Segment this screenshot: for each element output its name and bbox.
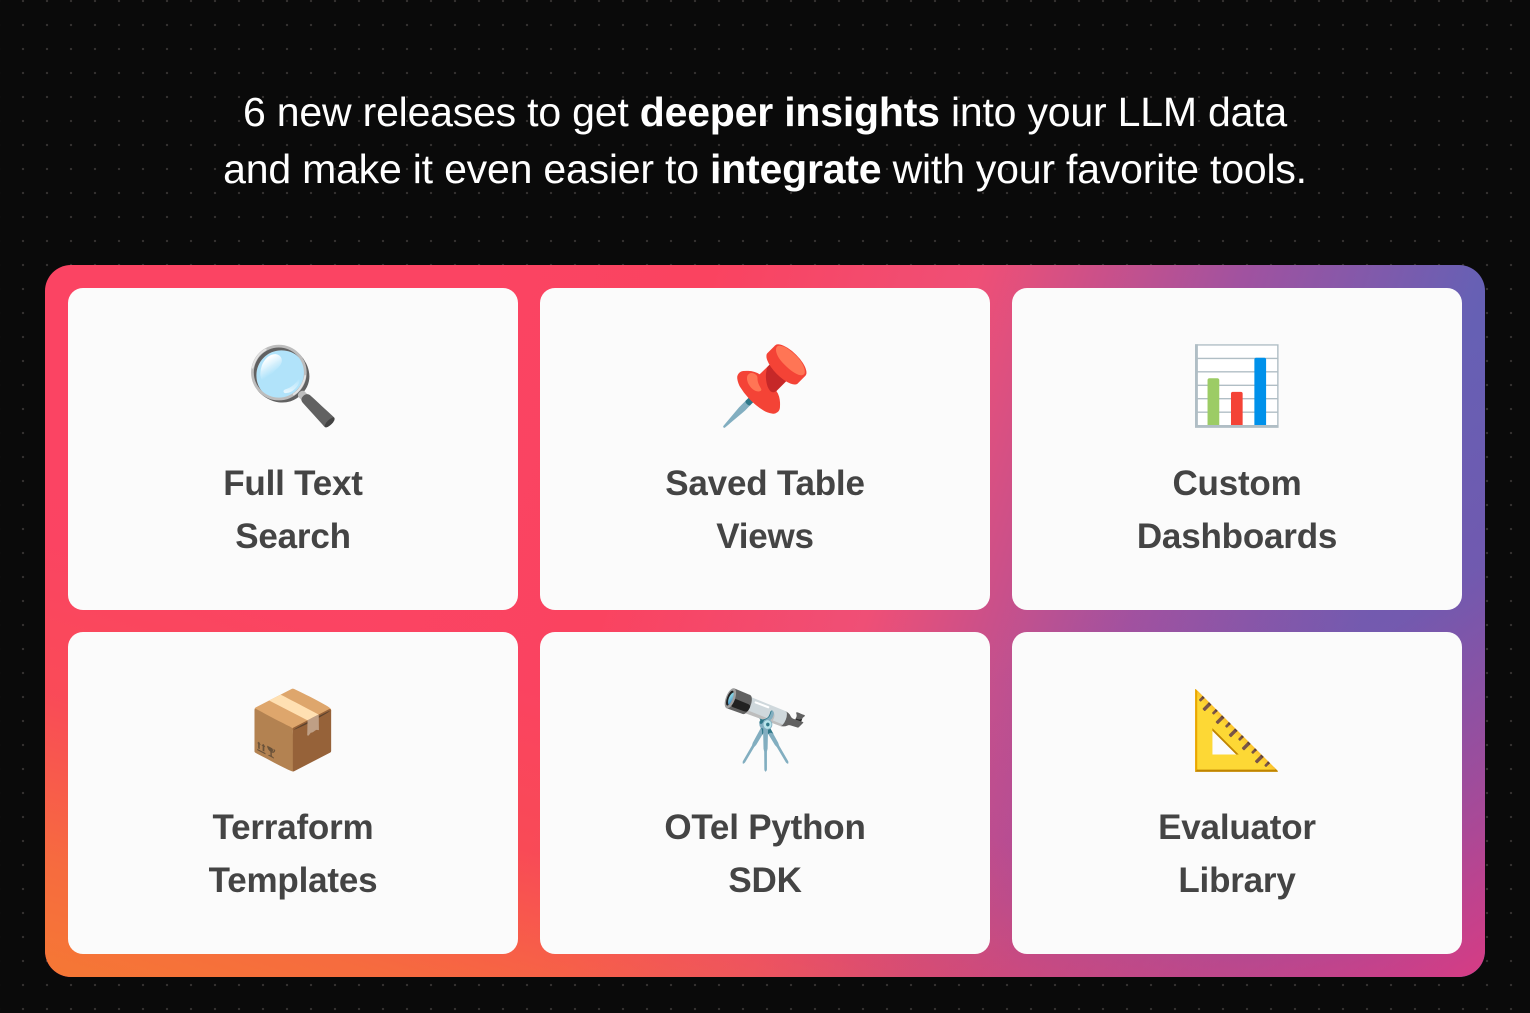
headline-line-1: 6 new releases to get deeper insights in… xyxy=(60,84,1470,141)
feature-card-label-line2: Views xyxy=(665,510,864,563)
feature-card-terraform-templates[interactable]: 📦 Terraform Templates xyxy=(68,632,518,954)
bar-chart-icon: 📊 xyxy=(1190,335,1285,439)
feature-card-otel-python-sdk[interactable]: 🔭 OTel Python SDK xyxy=(540,632,990,954)
headline-line2-pre: and make it even easier to xyxy=(223,146,710,192)
feature-panel: 🔍 Full Text Search 📌 Saved Table Views 📊… xyxy=(45,265,1485,977)
feature-card-label-line2: Search xyxy=(223,510,363,563)
headline-line1-pre: 6 new releases to get xyxy=(243,89,640,135)
feature-card-saved-table-views[interactable]: 📌 Saved Table Views xyxy=(540,288,990,610)
feature-card-label-line1: Evaluator xyxy=(1158,801,1316,854)
feature-card-label-line1: Full Text xyxy=(223,457,363,510)
feature-card-grid: 🔍 Full Text Search 📌 Saved Table Views 📊… xyxy=(68,288,1462,954)
feature-card-label-line1: Terraform xyxy=(209,801,378,854)
feature-card-label-line1: Custom xyxy=(1137,457,1337,510)
feature-card-label: Terraform Templates xyxy=(209,801,378,907)
feature-card-label-line1: OTel Python xyxy=(664,801,865,854)
pushpin-icon: 📌 xyxy=(718,335,813,439)
headline-line1-post: into your LLM data xyxy=(940,89,1287,135)
feature-card-label: Custom Dashboards xyxy=(1137,457,1337,563)
telescope-icon: 🔭 xyxy=(718,679,813,783)
headline-line1-emphasis: deeper insights xyxy=(640,89,940,135)
headline-line-2: and make it even easier to integrate wit… xyxy=(60,141,1470,198)
feature-card-label-line2: SDK xyxy=(664,854,865,907)
page-headline: 6 new releases to get deeper insights in… xyxy=(0,0,1530,198)
headline-line2-emphasis: integrate xyxy=(710,146,881,192)
feature-card-custom-dashboards[interactable]: 📊 Custom Dashboards xyxy=(1012,288,1462,610)
feature-card-label-line1: Saved Table xyxy=(665,457,864,510)
feature-card-label: Full Text Search xyxy=(223,457,363,563)
triangular-ruler-icon: 📐 xyxy=(1190,679,1285,783)
feature-card-label: Saved Table Views xyxy=(665,457,864,563)
feature-card-evaluator-library[interactable]: 📐 Evaluator Library xyxy=(1012,632,1462,954)
feature-card-full-text-search[interactable]: 🔍 Full Text Search xyxy=(68,288,518,610)
headline-line2-post: with your favorite tools. xyxy=(881,146,1306,192)
feature-card-label-line2: Templates xyxy=(209,854,378,907)
magnifying-glass-icon: 🔍 xyxy=(246,335,341,439)
feature-card-label-line2: Dashboards xyxy=(1137,510,1337,563)
feature-card-label-line2: Library xyxy=(1158,854,1316,907)
package-box-icon: 📦 xyxy=(246,679,341,783)
feature-card-label: Evaluator Library xyxy=(1158,801,1316,907)
feature-card-label: OTel Python SDK xyxy=(664,801,865,907)
